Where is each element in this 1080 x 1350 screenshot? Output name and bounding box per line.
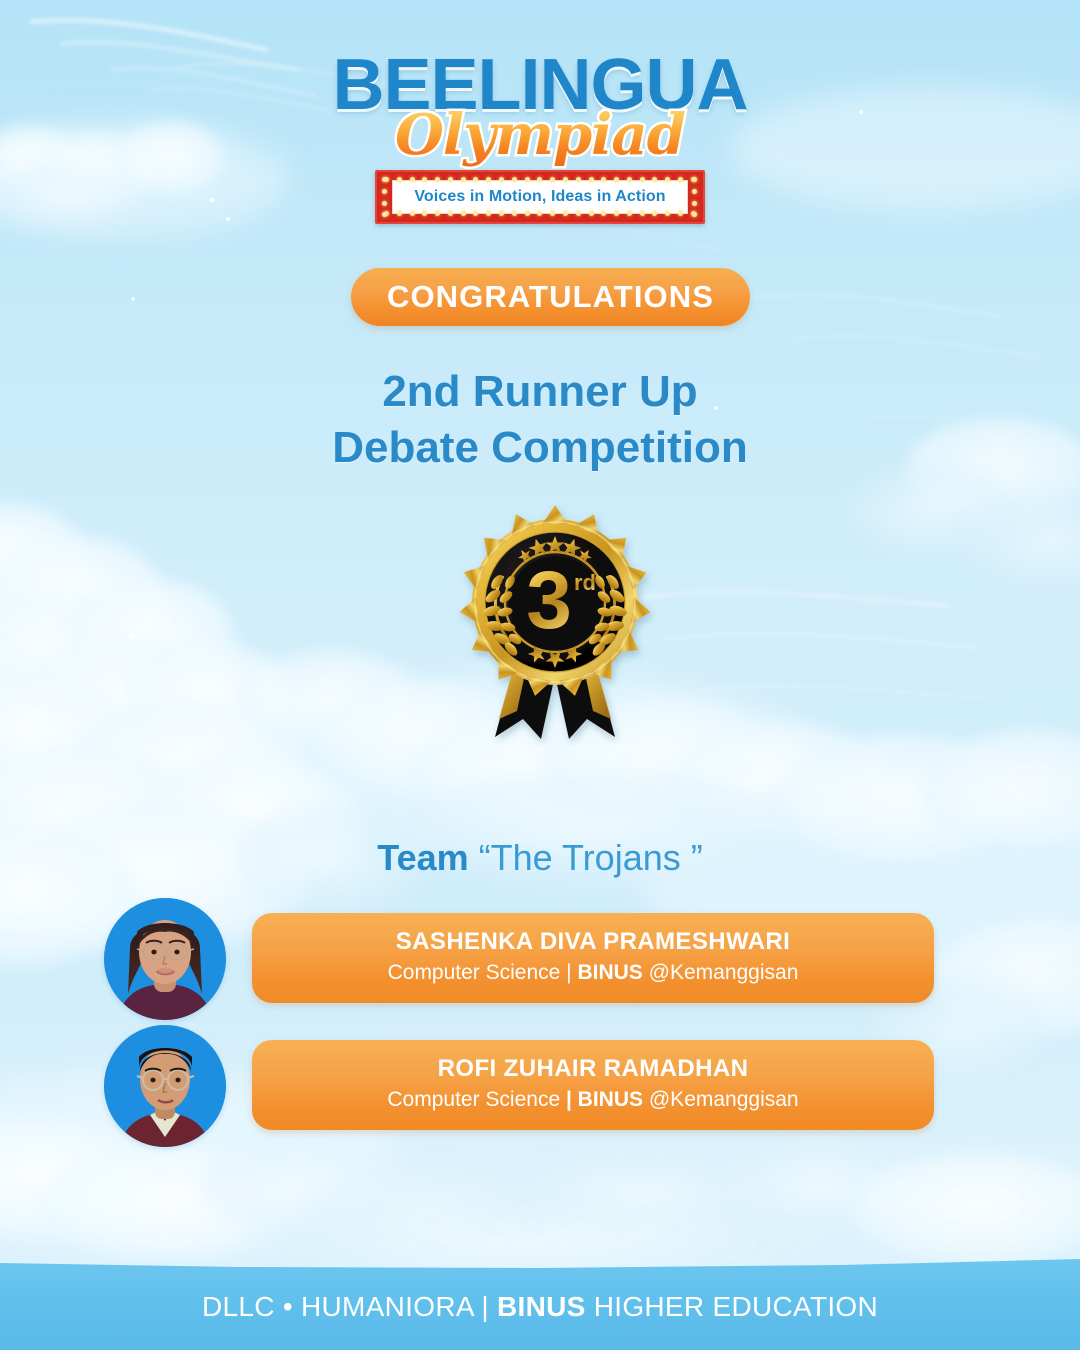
marquee-bulbs-left [382,172,388,222]
page-title: 2nd Runner Up Debate Competition [0,364,1080,477]
team-member-row: SASHENKA DIVA PRAMESHWARI Computer Scien… [104,898,934,1011]
footer-text: DLLC • HUMANIORA | BINUS HIGHER EDUCATIO… [0,1291,1080,1323]
event-logo: BEELINGUA Olympiad Olympiad [0,52,1080,224]
footer-left-text: DLLC • HUMANIORA | [202,1291,497,1322]
third-place-medal-icon: 3 rd [455,505,655,745]
member-card: ROFI ZUHAIR RAMADHAN Computer Science | … [252,1040,934,1130]
member-meta: Computer Science | BINUS @Kemanggisan [388,959,799,987]
avatar-photo-rofi [104,1025,226,1147]
team-name: “The Trojans ” [479,837,703,878]
marquee-bulbs-right [692,172,698,222]
medal-rank-suffix: rd [574,570,596,595]
tagline-marquee: Voices in Motion, Ideas in Action [375,170,705,224]
award-title-line2: Debate Competition [0,420,1080,476]
member-program: Computer Science [387,1088,566,1111]
marquee-bulbs-top [377,177,703,183]
poster-canvas: BEELINGUA Olympiad Olympiad [0,0,1080,1350]
member-campus: @Kemanggisan [643,1088,799,1111]
member-institution: | BINUS [566,1088,643,1111]
medal-rank-number: 3 [526,555,572,646]
congratulations-banner: CONGRATULATIONS [351,268,750,326]
congratulations-label: CONGRATULATIONS [387,279,714,315]
member-institution: BINUS [577,961,642,984]
avatar-photo-sashenka [104,898,226,1020]
member-program: Computer Science | [388,961,578,984]
member-campus: @Kemanggisan [643,961,799,984]
tagline-panel: Voices in Motion, Ideas in Action [392,180,688,214]
footer-right-text: HIGHER EDUCATION [586,1291,878,1322]
member-meta: Computer Science | BINUS @Kemanggisan [387,1086,798,1114]
footer-brand: BINUS [497,1291,586,1322]
member-name: ROFI ZUHAIR RAMADHAN [438,1055,749,1084]
team-member-row: ROFI ZUHAIR RAMADHAN Computer Science | … [104,1025,934,1138]
award-title-line1: 2nd Runner Up [0,364,1080,420]
tagline-text: Voices in Motion, Ideas in Action [414,188,665,206]
logo-script-wrap: Olympiad Olympiad [0,104,1080,162]
team-heading: Team “The Trojans ” [0,836,1080,879]
marquee-bulbs-bottom [377,211,703,217]
avatar [104,898,226,1020]
member-name: SASHENKA DIVA PRAMESHWARI [396,928,790,957]
team-prefix-label: Team [377,837,468,878]
member-card: SASHENKA DIVA PRAMESHWARI Computer Scien… [252,913,934,1003]
logo-script-text: Olympiad [0,102,1080,168]
avatar [104,1025,226,1147]
